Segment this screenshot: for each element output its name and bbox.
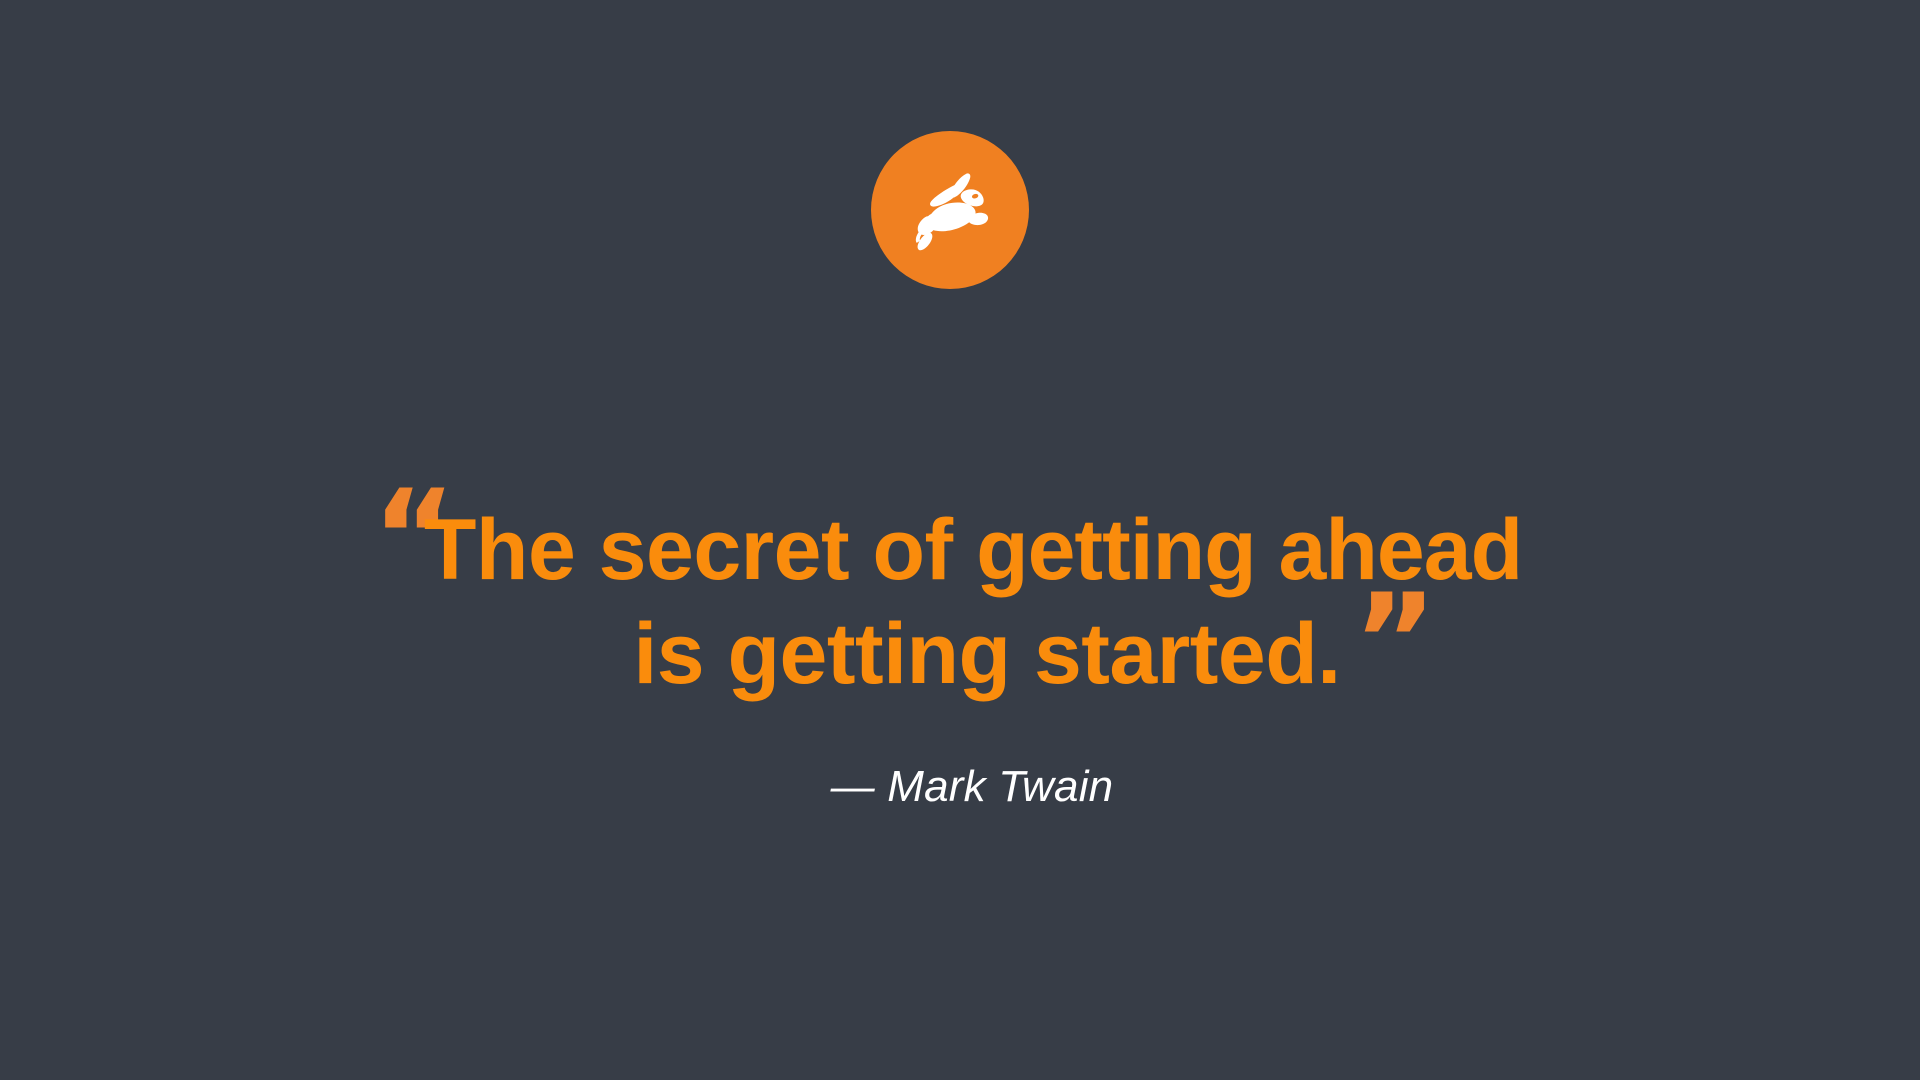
quote-line-2: is getting started. [0, 602, 1920, 706]
quote-slide: “ The secret of getting ahead is getting… [0, 0, 1920, 1080]
quote-attribution: — Mark Twain [0, 758, 1920, 816]
close-quote-mark: ” [1353, 578, 1437, 706]
logo-badge [871, 131, 1029, 289]
quote-line-1-emphasis: getting ahead [976, 502, 1522, 598]
quote-line-1-lead: The secret of [424, 502, 976, 598]
quote-line-2-text: is getting started. [633, 606, 1340, 702]
quote-line-1: The secret of getting ahead [0, 498, 1920, 602]
quote-block: “ The secret of getting ahead is getting… [0, 498, 1920, 706]
rabbit-icon [902, 162, 998, 258]
